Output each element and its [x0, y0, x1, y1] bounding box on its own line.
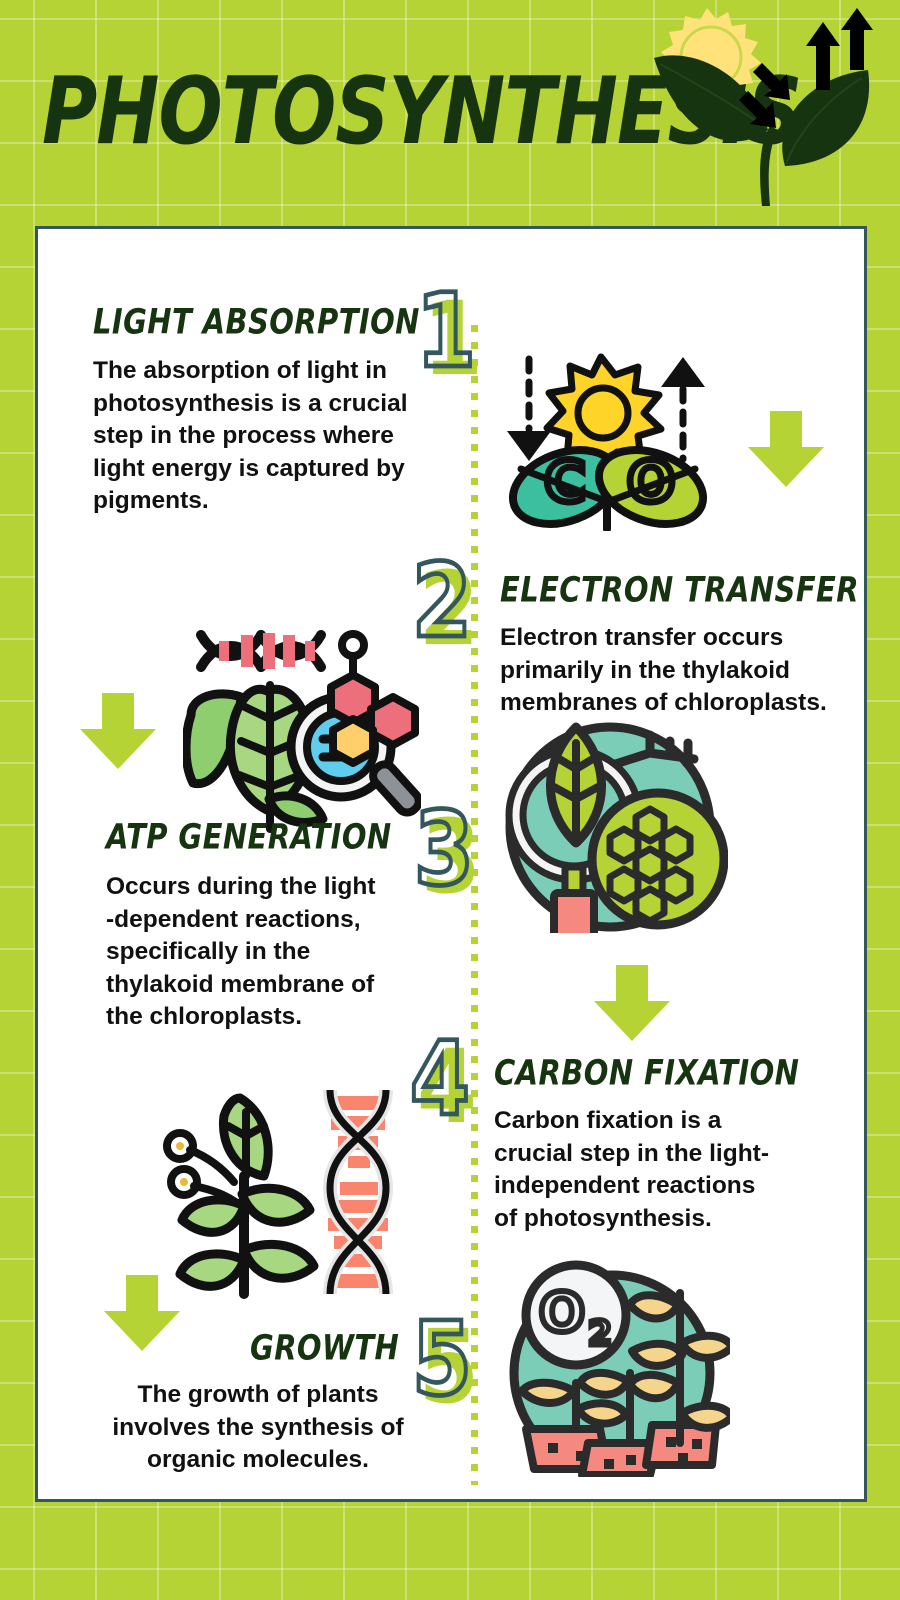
- dna-icon: [201, 633, 321, 669]
- leaf-icon: [182, 1200, 244, 1233]
- leaf-icon: [244, 1244, 314, 1278]
- step-illustration-4: [158, 1084, 408, 1302]
- step-illustration-5: O 2: [500, 1257, 730, 1477]
- oxygen-subscript: 2: [588, 1314, 612, 1354]
- step-illustration-1: C O: [493, 351, 721, 531]
- step-title-5: GROWTH: [250, 1327, 399, 1368]
- leaf-icon: [550, 727, 601, 843]
- flow-arrow-3: [590, 961, 674, 1045]
- flow-arrow-4: [100, 1271, 184, 1355]
- arrow-head-up-icon: [661, 357, 705, 387]
- step-illustration-2: [498, 717, 728, 933]
- leaf-letter-o: O: [627, 450, 675, 515]
- infographic-page: PHOTOSYNTHESIS: [0, 0, 900, 1600]
- flow-arrow-2: [76, 689, 160, 773]
- leaf-letter-c: C: [544, 450, 585, 515]
- step-body-2: Electron transfer occurs primarily in th…: [500, 622, 858, 720]
- step-body-3: Occurs during the light -dependent react…: [106, 871, 436, 1034]
- step-illustration-3: [183, 623, 421, 835]
- molecule-icon: [331, 634, 415, 763]
- oxygen-bubble-icon: O 2: [526, 1265, 626, 1365]
- flow-arrow-1: [744, 407, 828, 491]
- step-body-1: The absorption of light in photosynthesi…: [93, 355, 441, 518]
- honeycomb-cell-icon: [592, 793, 724, 925]
- header: PHOTOSYNTHESIS: [0, 0, 900, 225]
- step-body-4: Carbon fixation is a crucial step in the…: [494, 1105, 834, 1235]
- step-title-2: ELECTRON TRANSFER: [500, 569, 859, 610]
- step-title-3: ATP GENERATION: [106, 816, 392, 857]
- step-body-5: The growth of plants involves the synthe…: [78, 1379, 438, 1477]
- step-title-1: LIGHT ABSORPTION: [93, 301, 420, 342]
- leaf-icon: [242, 1188, 310, 1222]
- dna-helix-icon: [324, 1090, 390, 1294]
- content-card: 1 LIGHT ABSORPTION The absorption of lig…: [35, 226, 867, 1502]
- header-illustration: [640, 8, 890, 213]
- step-number-4: 4: [410, 1029, 470, 1130]
- oxygen-label: O: [539, 1281, 585, 1344]
- step-title-4: CARBON FIXATION: [494, 1052, 799, 1093]
- magnifier-handle: [554, 893, 594, 933]
- leaf-icon: [180, 1254, 244, 1287]
- leaf-icon: [223, 1098, 268, 1176]
